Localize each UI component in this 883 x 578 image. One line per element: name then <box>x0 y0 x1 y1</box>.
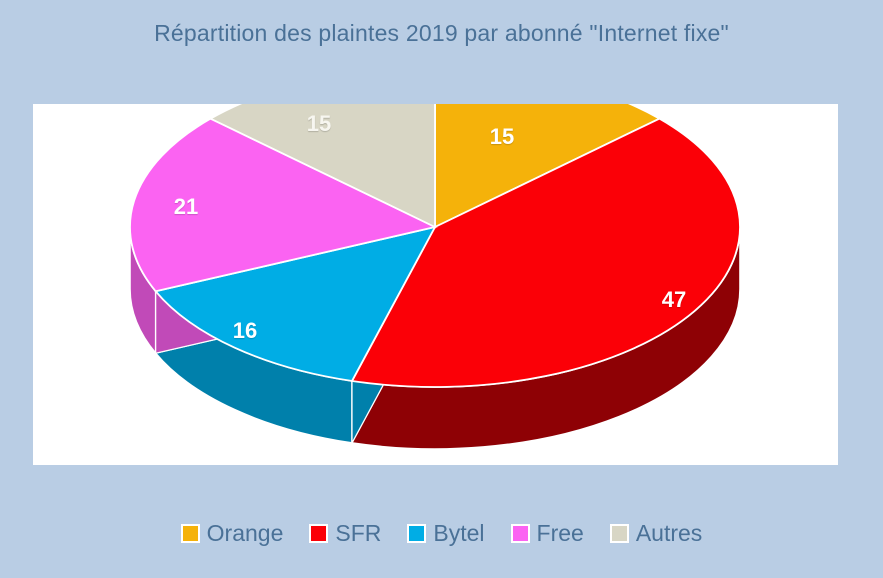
legend-item-sfr[interactable]: SFR <box>309 520 381 547</box>
legend-item-label: Free <box>537 520 584 547</box>
legend-swatch-icon <box>610 524 629 543</box>
legend-item-label: Autres <box>636 520 702 547</box>
legend-item-label: Orange <box>207 520 284 547</box>
pie-chart[interactable] <box>33 104 838 465</box>
legend-swatch-icon <box>407 524 426 543</box>
legend-swatch-icon <box>309 524 328 543</box>
page-title: Répartition des plaintes 2019 par abonné… <box>0 20 883 47</box>
legend-swatch-icon <box>511 524 530 543</box>
pie-chart-svg <box>33 104 838 465</box>
chart-screenshot: Répartition des plaintes 2019 par abonné… <box>0 0 883 578</box>
legend-item-bytel[interactable]: Bytel <box>407 520 484 547</box>
plot-area: 15 47 16 21 15 <box>33 104 838 465</box>
legend-item-free[interactable]: Free <box>511 520 584 547</box>
legend-item-orange[interactable]: Orange <box>181 520 284 547</box>
legend-item-label: Bytel <box>433 520 484 547</box>
legend: Orange SFR Bytel Free Autres <box>0 520 883 547</box>
legend-swatch-icon <box>181 524 200 543</box>
legend-item-label: SFR <box>335 520 381 547</box>
legend-item-autres[interactable]: Autres <box>610 520 702 547</box>
